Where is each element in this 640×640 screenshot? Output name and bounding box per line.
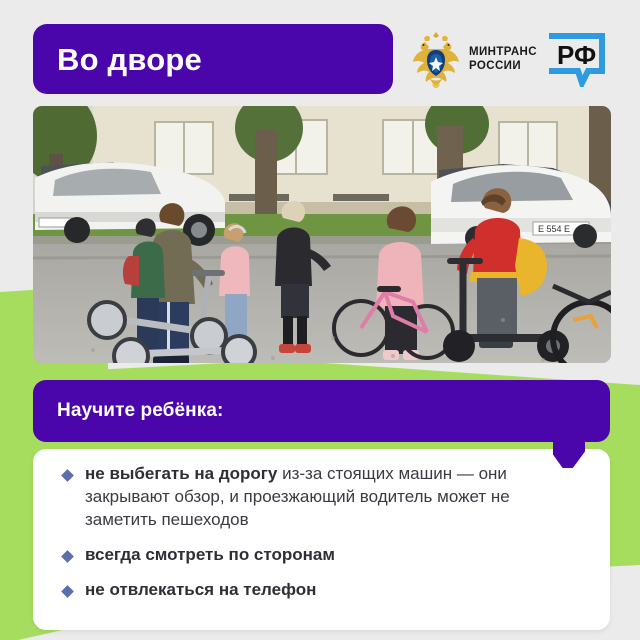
list-item: всегда смотреть по сторонам [33, 544, 610, 567]
diamond-bullet-icon [61, 585, 74, 598]
ministry-line-2: РОССИИ [469, 60, 521, 72]
list-item: не выбегать на дорогу из-за стоящих маши… [33, 463, 610, 532]
rf-speech-bubble-icon: РФ [548, 31, 606, 87]
list-item-text: всегда смотреть по сторонам [85, 544, 335, 567]
teach-child-banner: Научите ребёнка: [33, 380, 610, 442]
list-item-text: не выбегать на дорогу из-за стоящих маши… [85, 463, 574, 532]
list-item-bold: всегда смотреть по сторонам [85, 545, 335, 564]
poster-root: Во дворе [0, 0, 640, 640]
list-item-text: не отвлекаться на телефон [85, 579, 316, 602]
diamond-bullet-icon [61, 469, 74, 482]
list-item-bold: не выбегать на дорогу [85, 464, 277, 483]
list-item: не отвлекаться на телефон [33, 579, 610, 602]
ministry-logo-block: МИНТРАНС РОССИИ РФ [410, 26, 610, 92]
title-bar: Во дворе [33, 24, 393, 94]
list-item-bold: не отвлекаться на телефон [85, 580, 316, 599]
ministry-line-1: МИНТРАНС [469, 46, 537, 58]
ministry-name: МИНТРАНС РОССИИ [469, 45, 537, 74]
rf-mark-text: РФ [557, 40, 596, 70]
diamond-bullet-icon [61, 550, 74, 563]
courtyard-photo: Е 554 Е [33, 106, 611, 363]
russian-double-headed-eagle-emblem-icon [410, 29, 462, 89]
advice-list: не выбегать на дорогу из-за стоящих маши… [33, 463, 610, 602]
license-plate-text: Е 554 Е [538, 224, 570, 234]
banner-heading: Научите ребёнка: [33, 400, 223, 422]
page-title: Во дворе [33, 44, 202, 75]
advice-card: не выбегать на дорогу из-за стоящих маши… [33, 449, 610, 630]
